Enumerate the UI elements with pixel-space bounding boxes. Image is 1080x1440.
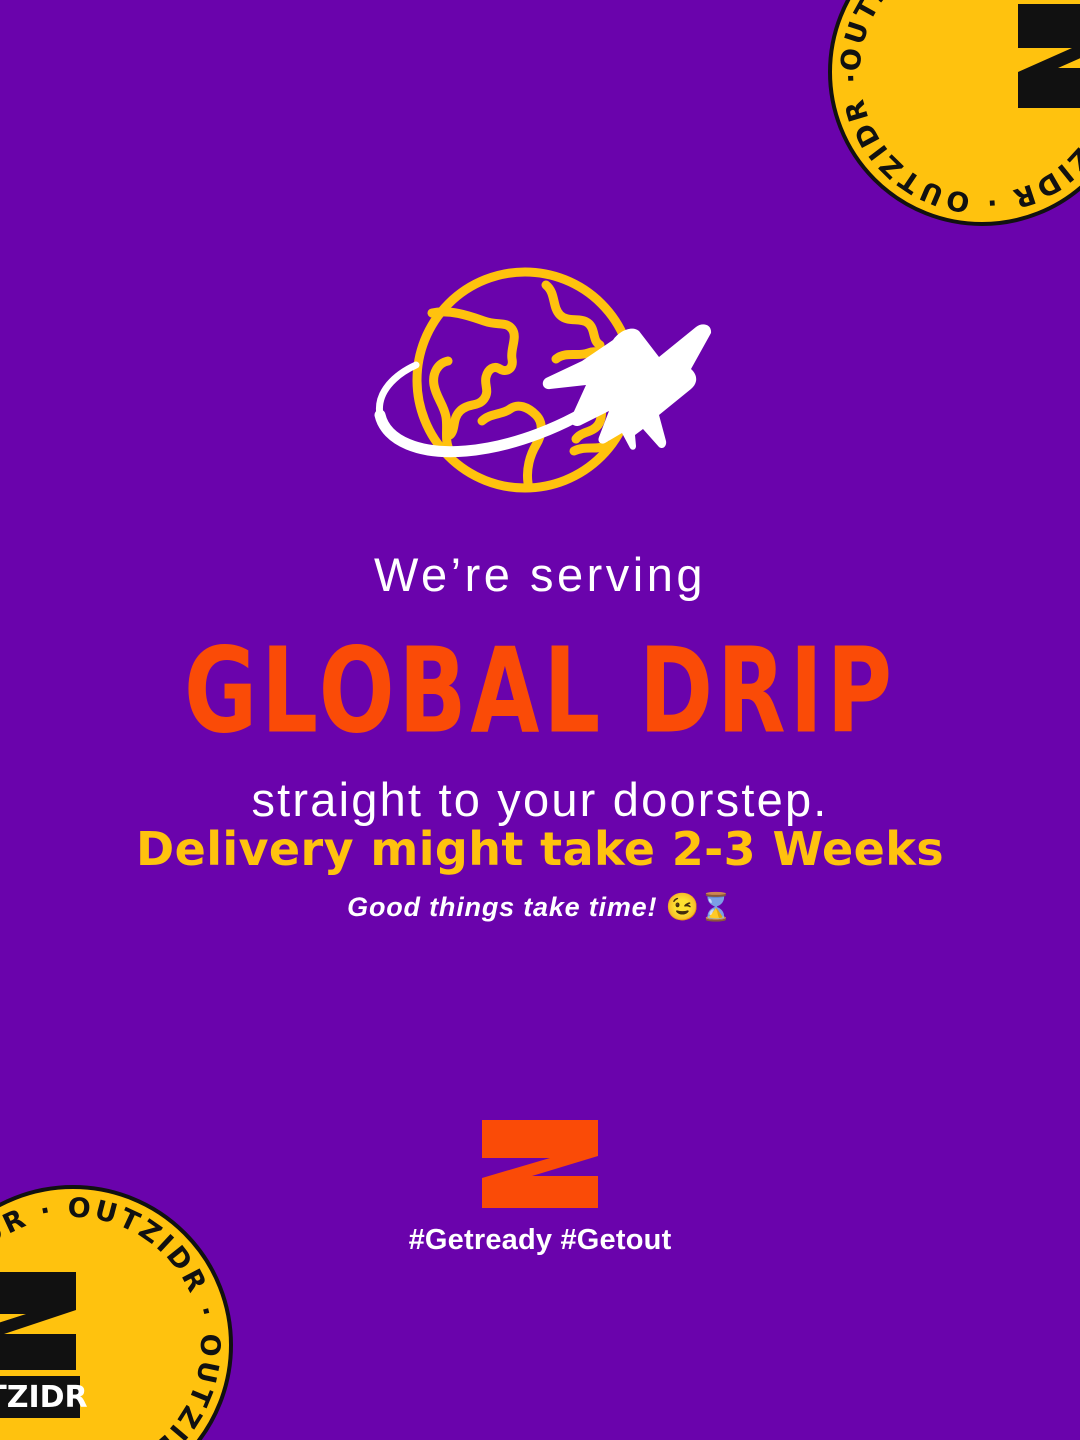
delivery-notice-block: Delivery might take 2-3 Weeks Good thing…	[0, 822, 1080, 923]
delivery-headline: Delivery might take 2-3 Weeks	[0, 822, 1080, 877]
hero-logo	[0, 265, 1080, 500]
promotional-poster: OUTZIDR · OUTZIDR · OUTZIDR · OUTZIDR ·	[0, 0, 1080, 1440]
outzidr-sticker-badge-top-right: OUTZIDR · OUTZIDR · OUTZIDR · OUTZIDR ·	[822, 0, 1080, 237]
delivery-subline: Good things take time! 😉⌛	[0, 891, 1080, 923]
outzidr-sticker-badge-bottom-left: OUTZIDR · OUTZIDR · OUTZIDR · OUTZIDR · …	[0, 1180, 238, 1440]
badge-svg: OUTZIDR · OUTZIDR · OUTZIDR · OUTZIDR · …	[0, 1180, 238, 1440]
globe-airplane-icon	[360, 265, 720, 500]
headline-emphasis: GLOBAL DRIP	[16, 620, 1064, 764]
outzidr-z-logo	[478, 1118, 602, 1210]
headline-line-1: We’re serving	[0, 548, 1080, 602]
badge-wordmark-text: OUTZIDR	[0, 1380, 88, 1415]
hashtags-text: #Getready #Getout	[409, 1224, 672, 1257]
badge-wordmark: OUTZIDR	[0, 1376, 88, 1418]
delivery-subline-text: Good things take time!	[347, 892, 657, 922]
main-copy-block: We’re serving GLOBAL DRIP straight to yo…	[0, 548, 1080, 829]
delivery-emoji: 😉⌛	[666, 892, 733, 922]
headline-line-3: straight to your doorstep.	[0, 772, 1080, 828]
badge-svg: OUTZIDR · OUTZIDR · OUTZIDR · OUTZIDR ·	[822, 0, 1080, 232]
